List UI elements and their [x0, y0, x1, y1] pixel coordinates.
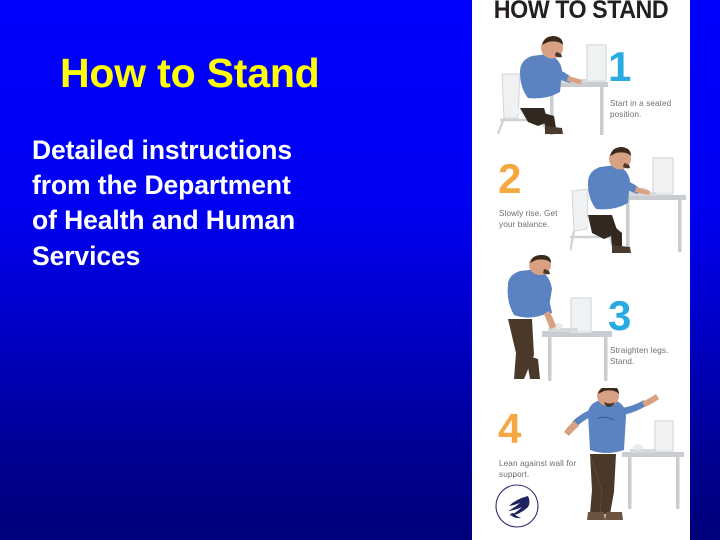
body-line: Services [32, 239, 452, 274]
step-number: 2 [498, 158, 520, 200]
step-caption: Lean against wall for support. [499, 458, 579, 481]
step-3: 3 Straighten legs. Stand. [472, 295, 690, 385]
hhs-eagle-logo-icon [494, 483, 540, 529]
step-1: 1 Start in a seated position. [472, 46, 690, 146]
infographic-header: HOW TO STAND [480, 0, 683, 25]
body-line: from the Department [32, 168, 452, 203]
slide-body-text: Detailed instructions from the Departmen… [32, 133, 452, 274]
presentation-slide: How to Stand Detailed instructions from … [0, 0, 720, 540]
step-number: 1 [608, 46, 630, 88]
step-caption: Start in a seated position. [610, 98, 680, 121]
step-2: 2 Slowly rise. Get your balance. [472, 158, 690, 258]
body-line: of Health and Human [32, 203, 452, 238]
infographic-panel: HOW TO STAND [472, 0, 690, 540]
step-number: 3 [608, 295, 630, 337]
body-line: Detailed instructions [32, 133, 452, 168]
page-title: How to Stand [60, 52, 460, 95]
step-caption: Straighten legs. Stand. [610, 345, 690, 368]
step-caption: Slowly rise. Get your balance. [499, 208, 571, 231]
step-number: 4 [498, 408, 520, 450]
